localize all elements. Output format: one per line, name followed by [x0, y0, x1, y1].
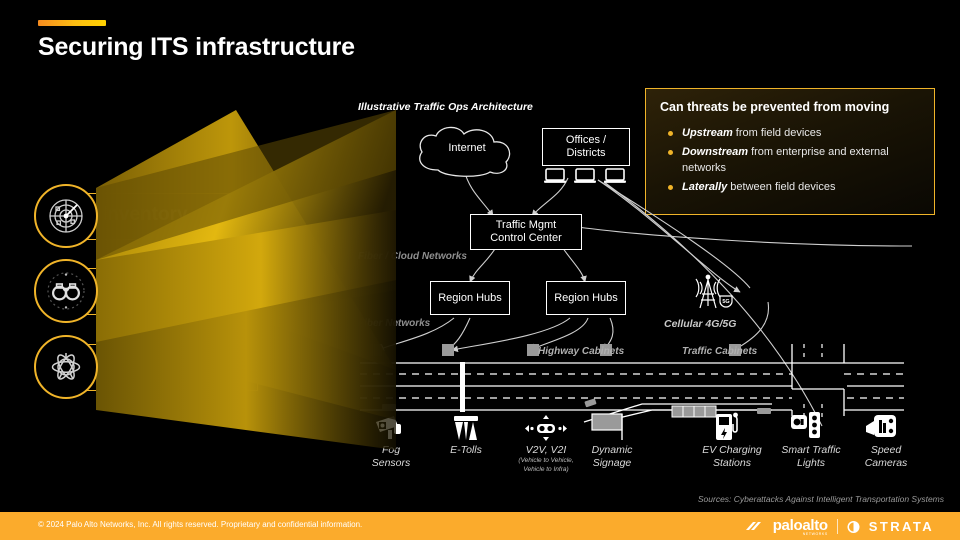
pillar-inventory-label: Inventory [102, 204, 188, 226]
cellular-tower-icon: 5G [682, 272, 742, 316]
device-line-1: Dynamic [592, 444, 633, 456]
device-line-2: Stations [713, 457, 751, 469]
offices-line-1: Offices / [566, 134, 606, 147]
paloalto-mark-icon [744, 519, 764, 534]
svg-text:5G: 5G [722, 299, 729, 305]
footer-copyright: © 2024 Palo Alto Networks, Inc. All righ… [38, 520, 362, 529]
device-sub-line-2: Vehicle to Infra) [508, 466, 584, 475]
device-line-1: V2V, V2I [526, 444, 567, 456]
pillar-inspect[interactable]: Inspect [34, 268, 258, 315]
laptops-icon-group [544, 168, 630, 186]
atom-shield-icon [34, 335, 98, 399]
pillar-restrict[interactable]: Restrict [34, 344, 258, 391]
footer-logo-group: paloalto NETWORKS STRATA [744, 517, 934, 536]
cellular-label: Cellular 4G/5G [664, 318, 736, 330]
pillar-inspect-label: Inspect [102, 279, 169, 301]
device-sub-line-1: (Vehicle to Vehicle, [508, 457, 584, 466]
smart-traffic-lights-icon [789, 410, 825, 442]
offices-line-2: Districts [566, 147, 605, 160]
traffic-mgmt-control-center-node: Traffic Mgmt Control Center [470, 214, 582, 250]
control-center-line-1: Traffic Mgmt [496, 219, 557, 232]
strata-mark-icon [847, 520, 860, 534]
fiber-cloud-networks-label: Fiber / Cloud Networks [358, 251, 467, 262]
logo-divider [837, 519, 838, 534]
device-line-2: Cameras [865, 457, 908, 469]
paloalto-wordmark: paloalto NETWORKS [773, 517, 828, 536]
device-line-2: Signage [593, 457, 632, 469]
device-line-1: EV Charging [702, 444, 762, 456]
device-line-1: Fog [382, 444, 400, 456]
device-line-1: Speed [871, 444, 901, 456]
speed-cameras-label: Speed Cameras [850, 444, 922, 470]
smart-traffic-lights-label: Smart Traffic Lights [772, 444, 850, 470]
slide-canvas: Securing ITS infrastructure [0, 0, 960, 540]
page-title: Securing ITS infrastructure [38, 33, 355, 62]
traffic-cabinets-label: Traffic Cabinets [682, 346, 757, 357]
device-line-2: Sensors [372, 457, 411, 469]
ev-charging-label: EV Charging Stations [690, 444, 774, 470]
fiber-networks-label: Fiber Networks [358, 318, 430, 329]
pillar-restrict-label: Restrict [102, 355, 173, 377]
offices-districts-node: Offices / Districts [542, 128, 630, 166]
device-line-1: E-Tolls [450, 444, 482, 456]
sources-note: Sources: Cyberattacks Against Intelligen… [0, 494, 944, 504]
internet-label: Internet [412, 142, 522, 154]
device-line-2: Lights [797, 457, 825, 469]
region-hubs-right-node: Region Hubs [546, 281, 626, 315]
pillar-inventory[interactable]: Inventory [34, 193, 258, 240]
v2v-v2i-icon [520, 414, 572, 442]
ev-charging-icon [712, 410, 746, 442]
traffic-ops-architecture-diagram: Illustrative Traffic Ops Architecture [352, 96, 952, 496]
footer-bar: © 2024 Palo Alto Networks, Inc. All righ… [0, 512, 960, 540]
fog-sensors-label: Fog Sensors [352, 444, 430, 470]
e-tolls-label: E-Tolls [432, 444, 500, 457]
e-tolls-icon [450, 414, 482, 442]
binoculars-icon [34, 259, 98, 323]
highway-cabinets-label: Highway Cabinets [538, 346, 624, 357]
speed-cameras-icon [862, 412, 900, 442]
radar-scope-icon [34, 184, 98, 248]
strata-wordmark: STRATA [869, 519, 934, 534]
fog-sensors-icon [374, 414, 408, 442]
device-line-1: Smart Traffic [781, 444, 840, 456]
title-accent-bar [38, 20, 106, 26]
dynamic-signage-label: Dynamic Signage [580, 444, 644, 470]
control-center-line-2: Control Center [490, 232, 562, 245]
dynamic-signage-icon [590, 412, 630, 442]
region-hubs-left-node: Region Hubs [430, 281, 510, 315]
v2v-v2i-label: V2V, V2I (Vehicle to Vehicle, Vehicle to… [508, 444, 584, 474]
